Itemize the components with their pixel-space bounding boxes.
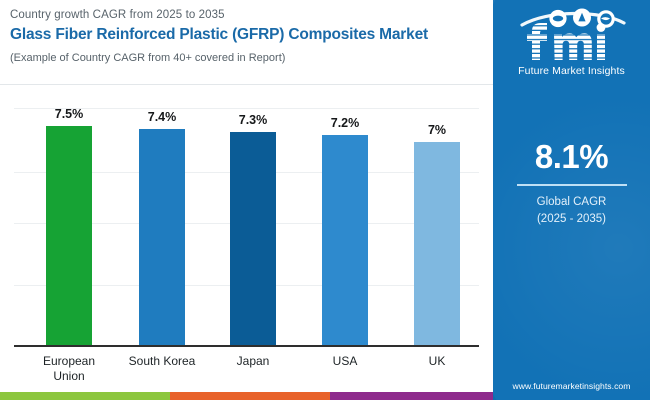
infographic-root: Country growth CAGR from 2025 to 2035 Gl… (0, 0, 650, 400)
fmi-logo-icon (508, 8, 636, 64)
bar-value-label: 7.5% (29, 107, 109, 121)
x-axis-label: EuropeanUnion (19, 354, 119, 384)
green-segment (0, 392, 170, 400)
bar-value-label: 7.3% (213, 113, 293, 127)
global-cagr-value: 8.1% (493, 138, 650, 175)
x-axis-label: South Korea (112, 354, 212, 369)
x-axis-label: UK (387, 354, 487, 369)
fmi-logo-tagline: Future Market Insights (493, 65, 650, 77)
chart-kicker: Country growth CAGR from 2025 to 2035 (10, 8, 483, 22)
chart-subtitle: (Example of Country CAGR from 40+ covere… (10, 51, 483, 65)
bar[interactable] (414, 142, 460, 345)
divider (517, 184, 627, 186)
plot-area: 7.5%7.4%7.3%7.2%7% (0, 85, 493, 347)
chart-header: Country growth CAGR from 2025 to 2035 Gl… (0, 0, 493, 85)
chart-panel: Country growth CAGR from 2025 to 2035 Gl… (0, 0, 493, 400)
purple-segment (330, 392, 493, 400)
bar-value-label: 7% (397, 123, 477, 137)
global-cagr-label-line2: (2025 - 2035) (493, 211, 650, 228)
global-cagr-block: 8.1% Global CAGR (2025 - 2035) (493, 138, 650, 228)
footer-color-stripe (0, 392, 493, 400)
fmi-logo: Future Market Insights (493, 8, 650, 80)
bar[interactable] (46, 126, 92, 345)
bar-value-label: 7.2% (305, 116, 385, 130)
bar-value-label: 7.4% (122, 110, 202, 124)
brand-panel: Future Market Insights 8.1% Global CAGR … (493, 0, 650, 400)
x-axis-label: USA (295, 354, 395, 369)
bar[interactable] (139, 129, 185, 345)
x-axis-labels: EuropeanUnionSouth KoreaJapanUSAUK (0, 347, 493, 387)
website-url[interactable]: www.futuremarketinsights.com (493, 381, 650, 391)
bar[interactable] (322, 135, 368, 345)
orange-segment (170, 392, 330, 400)
global-cagr-label-line1: Global CAGR (493, 194, 650, 211)
bar[interactable] (230, 132, 276, 345)
page-title: Glass Fiber Reinforced Plastic (GFRP) Co… (10, 25, 483, 44)
x-axis-label: Japan (203, 354, 303, 369)
